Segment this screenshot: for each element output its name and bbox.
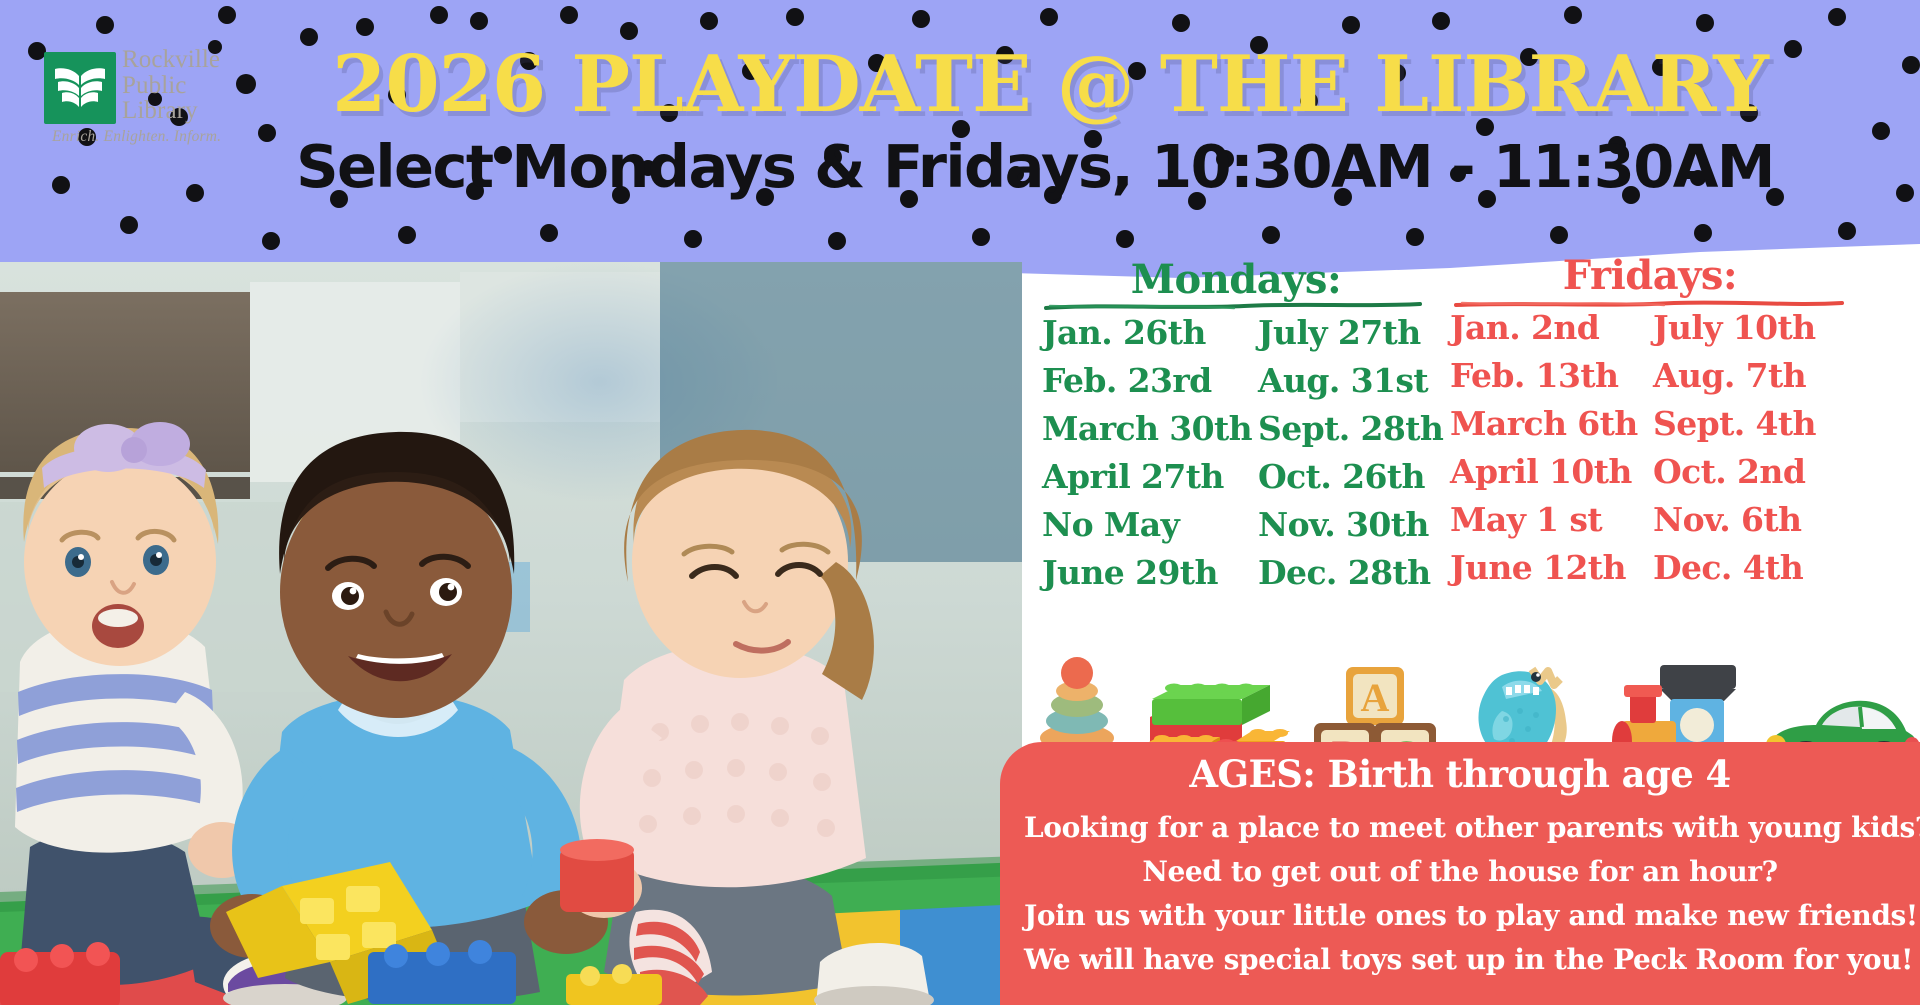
playdate-flyer: Rockville Public Library Enrich. Enlight… (0, 0, 1920, 1005)
decorative-dot (218, 6, 236, 24)
schedule-date: Oct. 26th (1258, 453, 1443, 501)
schedule-date: Feb. 13th (1450, 352, 1647, 400)
mondays-date-grid: Jan. 26thJuly 27thFeb. 23rdAug. 31stMarc… (1042, 309, 1432, 597)
schedule-date: May 1 st (1450, 496, 1647, 544)
schedule-date: Feb. 23rd (1042, 357, 1252, 405)
mondays-heading: Mondays: (1036, 258, 1436, 302)
decorative-dot (1406, 228, 1424, 246)
decorative-dot (1550, 226, 1568, 244)
decorative-dot (1694, 224, 1712, 242)
decorative-dot (262, 232, 280, 250)
schedule-date: Aug. 31st (1258, 357, 1443, 405)
ages-label: AGES: Birth through age 4 (1024, 742, 1896, 806)
decorative-dot (620, 22, 638, 40)
decorative-dot (1172, 14, 1190, 32)
info-line: Join us with your little ones to play an… (1024, 894, 1896, 938)
decorative-dot (786, 8, 804, 26)
info-panel: AGES: Birth through age 4 Looking for a … (1000, 742, 1920, 1005)
info-lines: Looking for a place to meet other parent… (1024, 806, 1896, 982)
schedule-date: April 10th (1450, 448, 1647, 496)
decorative-dot (700, 12, 718, 30)
decorative-dot (972, 228, 990, 246)
schedule-date: Jan. 26th (1042, 309, 1252, 357)
fridays-date-grid: Jan. 2ndJuly 10thFeb. 13thAug. 7thMarch … (1450, 304, 1850, 592)
decorative-dot (684, 230, 702, 248)
info-line: We will have special toys set up in the … (1024, 938, 1896, 982)
decorative-dot (560, 6, 578, 24)
decorative-dot (1564, 6, 1582, 24)
schedule-date: June 29th (1042, 549, 1252, 597)
schedule-date: March 30th (1042, 405, 1252, 453)
schedule-date: Dec. 4th (1653, 544, 1850, 592)
fridays-heading: Fridays: (1450, 254, 1850, 298)
decorative-dot (1262, 226, 1280, 244)
decorative-dot (912, 10, 930, 28)
decorative-dot (470, 12, 488, 30)
schedule-date: March 6th (1450, 400, 1647, 448)
schedule-date: Jan. 2nd (1450, 304, 1647, 352)
decorative-dot (1342, 16, 1360, 34)
schedule-date: No May (1042, 501, 1252, 549)
decorative-dot (1838, 222, 1856, 240)
decorative-dot (540, 224, 558, 242)
svg-text:A: A (1361, 675, 1390, 720)
schedule-date: July 27th (1258, 309, 1443, 357)
decorative-dot (828, 232, 846, 250)
decorative-dot (1432, 12, 1450, 30)
page-title: 2026 PLAYDATE @ THE LIBRARY (0, 44, 1920, 126)
decorative-dot (430, 6, 448, 24)
decorative-dot (1696, 14, 1714, 32)
info-line: Looking for a place to meet other parent… (1024, 806, 1896, 850)
schedule-date: Nov. 30th (1258, 501, 1443, 549)
schedule-date: June 12th (1450, 544, 1647, 592)
info-line: Need to get out of the house for an hour… (1024, 850, 1896, 894)
schedule-date: Sept. 4th (1653, 400, 1850, 448)
schedule-date: July 10th (1653, 304, 1850, 352)
decorative-dot (356, 18, 374, 36)
page-subtitle: Select Mondays & Fridays, 10:30AM - 11:3… (0, 134, 1920, 200)
decorative-dot (120, 216, 138, 234)
schedule-date: Nov. 6th (1653, 496, 1850, 544)
decorative-dot (1828, 8, 1846, 26)
decorative-dot (1116, 230, 1134, 248)
mondays-underline (1044, 302, 1422, 309)
schedule-date: Oct. 2nd (1653, 448, 1850, 496)
decorative-dot (96, 16, 114, 34)
children-playing-photo (0, 262, 1022, 1005)
schedule-date: Dec. 28th (1258, 549, 1443, 597)
schedule-date: Aug. 7th (1653, 352, 1850, 400)
schedule-date: April 27th (1042, 453, 1252, 501)
decorative-dot (1040, 8, 1058, 26)
decorative-dot (398, 226, 416, 244)
schedule-date: Sept. 28th (1258, 405, 1443, 453)
